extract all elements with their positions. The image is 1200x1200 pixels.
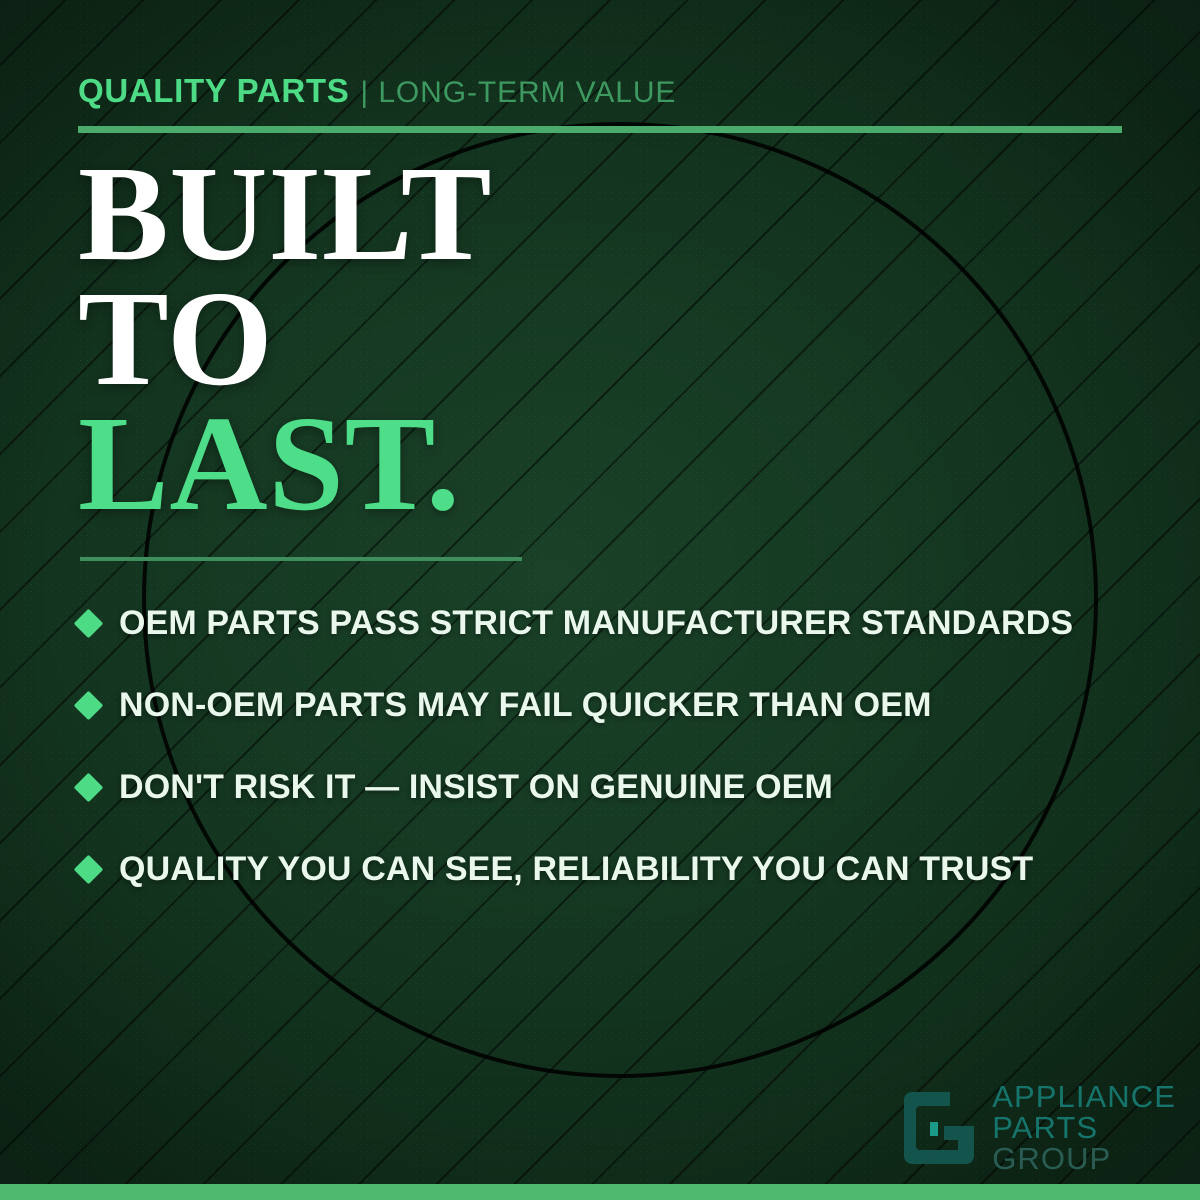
list-item-label: NON-OEM PARTS MAY FAIL QUICKER THAN OEM <box>119 686 932 725</box>
brand-logo: APPLIANCE PARTS GROUP <box>900 1081 1176 1174</box>
eyebrow-light-text: | LONG-TERM VALUE <box>360 76 676 110</box>
list-item-label: DON'T RISK IT — INSIST ON GENUINE OEM <box>119 768 833 807</box>
diamond-bullet-icon <box>74 608 104 638</box>
top-divider-rule <box>78 126 1122 133</box>
eyebrow-strong-text: QUALITY PARTS <box>78 72 349 110</box>
eyebrow: QUALITY PARTS | LONG-TERM VALUE <box>78 72 676 110</box>
logo-wordmark: APPLIANCE PARTS GROUP <box>992 1081 1176 1174</box>
eyebrow-subtitle: LONG-TERM VALUE <box>378 76 676 109</box>
poster-content: QUALITY PARTS | LONG-TERM VALUE BUILT TO… <box>0 0 1200 1200</box>
bottom-accent-bar <box>0 1184 1200 1200</box>
list-item: DON'T RISK IT — INSIST ON GENUINE OEM <box>78 746 1138 828</box>
list-item-label: QUALITY YOU CAN SEE, RELIABILITY YOU CAN… <box>119 850 1033 889</box>
diamond-bullet-icon <box>74 854 104 884</box>
logo-line-1: APPLIANCE <box>992 1081 1176 1112</box>
mid-divider-rule <box>80 557 522 561</box>
appliance-parts-group-g-mark <box>900 1088 978 1168</box>
page-title: BUILT TO LAST. <box>78 152 492 527</box>
headline-line-2: TO <box>78 277 492 402</box>
diamond-bullet-icon <box>74 690 104 720</box>
benefit-list: OEM PARTS PASS STRICT MANUFACTURER STAND… <box>78 582 1138 910</box>
list-item: OEM PARTS PASS STRICT MANUFACTURER STAND… <box>78 582 1138 664</box>
promo-poster: QUALITY PARTS | LONG-TERM VALUE BUILT TO… <box>0 0 1200 1200</box>
diamond-bullet-icon <box>74 772 104 802</box>
headline-line-3: LAST. <box>78 402 492 527</box>
logo-line-2: PARTS <box>992 1112 1176 1143</box>
headline-line-1: BUILT <box>78 152 492 277</box>
list-item-label: OEM PARTS PASS STRICT MANUFACTURER STAND… <box>119 604 1073 643</box>
logo-line-3: GROUP <box>992 1143 1176 1174</box>
eyebrow-separator: | <box>360 76 369 109</box>
list-item: QUALITY YOU CAN SEE, RELIABILITY YOU CAN… <box>78 828 1138 910</box>
list-item: NON-OEM PARTS MAY FAIL QUICKER THAN OEM <box>78 664 1138 746</box>
